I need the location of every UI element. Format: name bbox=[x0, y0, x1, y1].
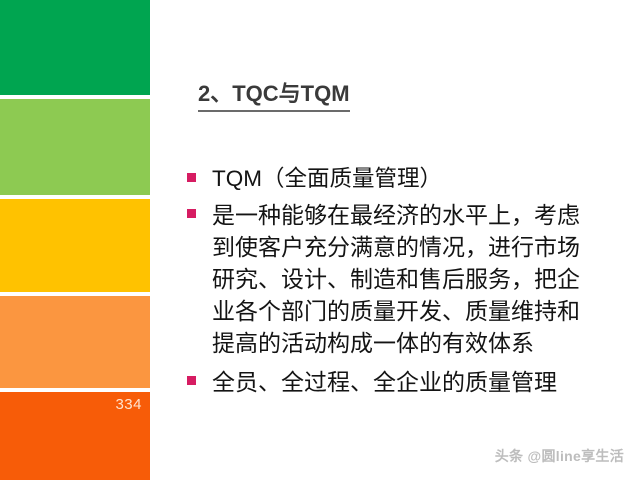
list-item-label: 全员、全过程、全企业的质量管理 bbox=[212, 369, 557, 395]
list-item: 全员、全过程、全企业的质量管理 bbox=[180, 366, 630, 398]
list-item-line: 提高的活动构成一体的有效体系 bbox=[212, 327, 630, 359]
slide-content: 2、TQC与TQM TQM（全面质量管理） 是一种能够在最经济的水平上，考虑 到… bbox=[150, 0, 640, 480]
slide-canvas: 334 2、TQC与TQM TQM（全面质量管理） 是一种能够在最经济的水平上，… bbox=[0, 0, 640, 480]
list-item: TQM（全面质量管理） bbox=[180, 163, 630, 195]
list-item-line: 到使客户充分满意的情况，进行市场 bbox=[212, 231, 630, 263]
color-stripe-green bbox=[0, 0, 150, 95]
watermark-label: 头条 @圆line享生活 bbox=[495, 446, 624, 466]
color-stripe-light-green bbox=[0, 99, 150, 195]
bullet-list: TQM（全面质量管理） 是一种能够在最经济的水平上，考虑 到使客户充分满意的情况… bbox=[180, 163, 630, 399]
list-item-body: 是一种能够在最经济的水平上，考虑 到使客户充分满意的情况，进行市场 研究、设计、… bbox=[212, 199, 630, 359]
page-title: 2、TQC与TQM bbox=[198, 76, 350, 112]
list-item-label: TQM（全面质量管理） bbox=[212, 166, 442, 191]
page-number: 334 bbox=[0, 396, 142, 413]
list-item-line: 是一种能够在最经济的水平上，考虑 bbox=[212, 199, 630, 231]
color-stripe-light-orange bbox=[0, 296, 150, 388]
title-container: 2、TQC与TQM bbox=[198, 76, 350, 112]
list-item: 是一种能够在最经济的水平上，考虑 到使客户充分满意的情况，进行市场 研究、设计、… bbox=[180, 199, 630, 359]
square-bullet-icon bbox=[187, 376, 196, 385]
list-item-line: 业各个部门的质量开发、质量维持和 bbox=[212, 295, 630, 327]
square-bullet-icon bbox=[187, 173, 196, 182]
square-bullet-icon bbox=[187, 209, 196, 218]
color-stripe-column: 334 bbox=[0, 0, 150, 480]
list-item-line: 研究、设计、制造和售后服务，把企 bbox=[212, 263, 630, 295]
color-stripe-yellow bbox=[0, 199, 150, 292]
